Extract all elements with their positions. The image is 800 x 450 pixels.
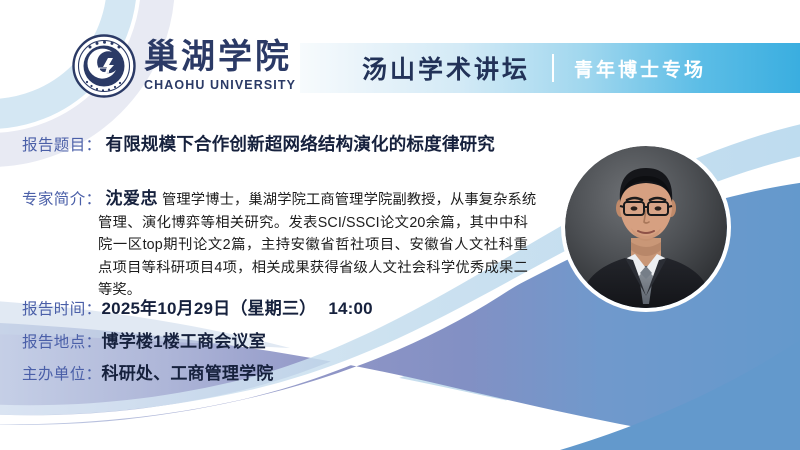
speaker-bio-line1: 管理学博士，巢湖学院工商管理学院副教授，从事复杂系统 (162, 189, 536, 212)
talk-host-value: 科研处、工商管理学院 (102, 359, 274, 384)
talk-location-label: 报告地点： (22, 330, 102, 352)
speaker-bio-label: 专家简介： (22, 187, 102, 209)
speaker-name: 沈爱忠 (106, 184, 159, 209)
speaker-portrait (565, 146, 727, 308)
talk-title-row: 报告题目： 有限规模下合作创新超网络结构演化的标度律研究 (22, 131, 495, 156)
seminar-poster: 巢湖学院 CHAOHU UNIVERSITY 汤山学术讲坛 青年博士专场 报告题… (0, 0, 800, 450)
speaker-bio-block: 专家简介： 沈爱忠 管理学博士，巢湖学院工商管理学院副教授，从事复杂系统 管理、… (22, 184, 527, 302)
talk-time-label: 报告时间： (22, 297, 102, 319)
talk-time-clock: 14:00 (328, 299, 372, 319)
speaker-portrait-image (565, 146, 727, 308)
poster-content: 报告题目： 有限规模下合作创新超网络结构演化的标度律研究 专家简介： 沈爱忠 管… (0, 0, 800, 450)
talk-location-value: 博学楼1楼工商会议室 (102, 327, 266, 352)
talk-time-row: 报告时间： 2025年10月29日（星期三） 14:00 (22, 294, 373, 319)
talk-time-date: 2025年10月29日（星期三） (102, 294, 317, 319)
talk-host-row: 主办单位： 科研处、工商管理学院 (22, 359, 274, 384)
talk-location-row: 报告地点： 博学楼1楼工商会议室 (22, 327, 266, 352)
speaker-bio-head: 专家简介： 沈爱忠 管理学博士，巢湖学院工商管理学院副教授，从事复杂系统 (22, 184, 527, 212)
talk-title-value: 有限规模下合作创新超网络结构演化的标度律研究 (106, 131, 495, 156)
talk-title-label: 报告题目： (22, 133, 102, 155)
speaker-bio-rest: 管理、演化博弈等相关研究。发表SCI/SSCI论文20余篇，其中中科院一区top… (98, 212, 528, 302)
talk-host-label: 主办单位： (22, 362, 102, 384)
